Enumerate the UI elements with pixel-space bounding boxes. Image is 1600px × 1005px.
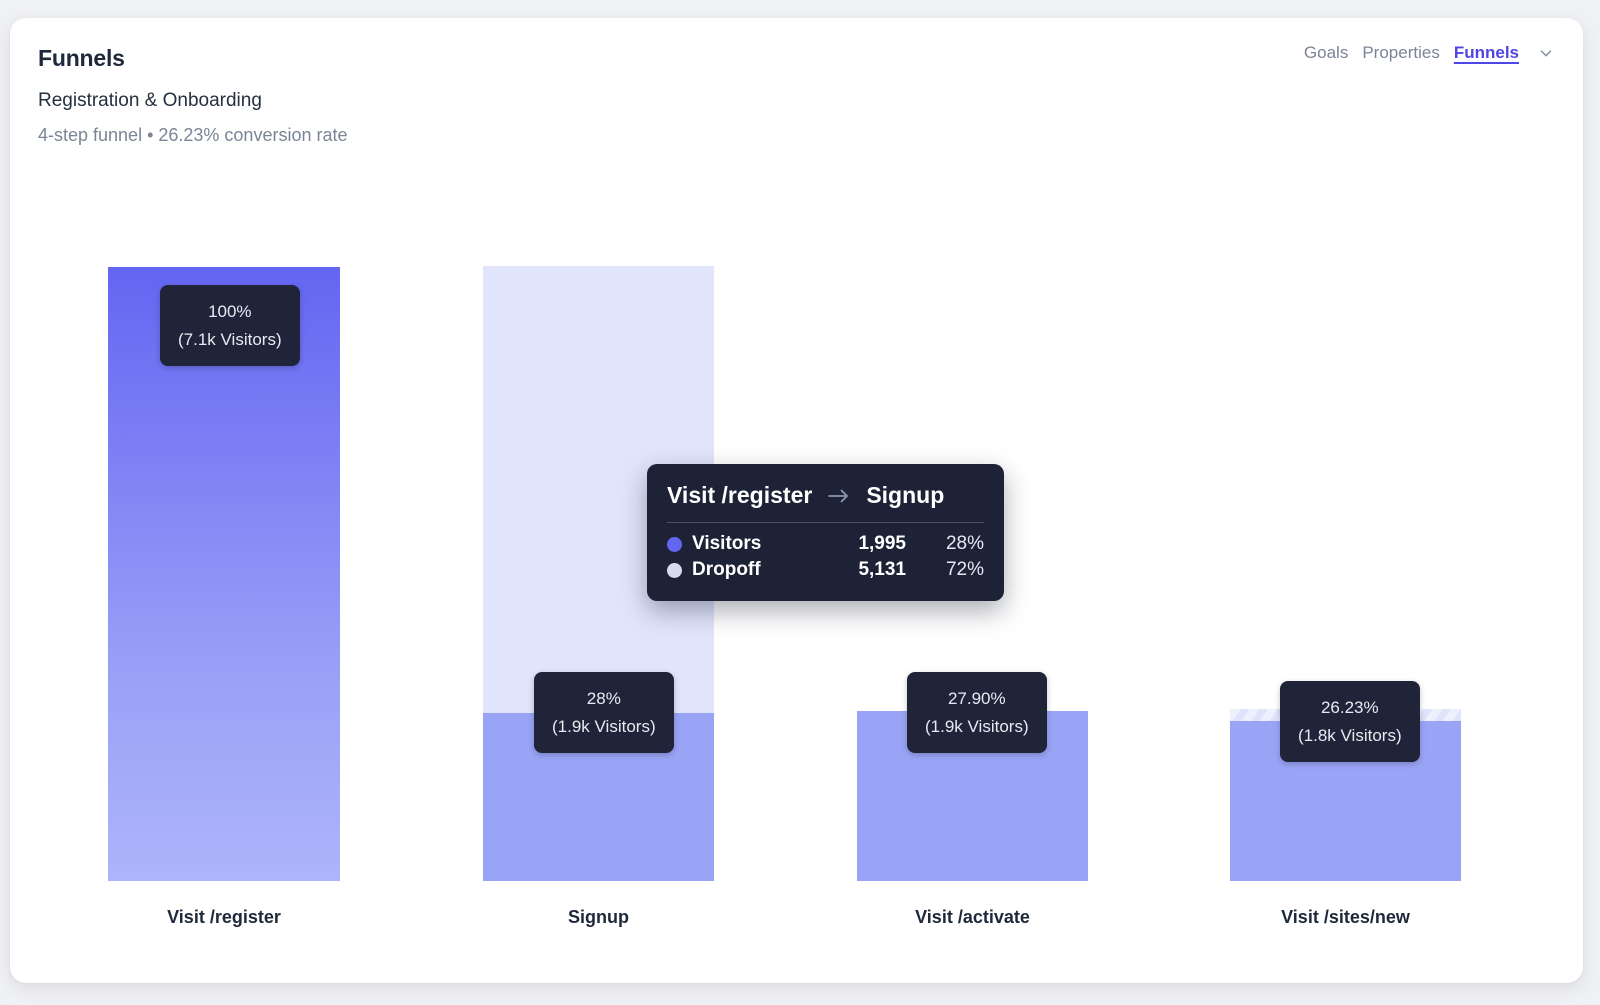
chip-visitors-1: (7.1k Visitors) [178,326,282,354]
tooltip-visitors-percent: 28% [906,533,984,555]
funnel-step-4[interactable]: Visit /sites/new [1230,18,1461,983]
chip-visitors-3: (1.9k Visitors) [925,713,1029,741]
funnel-step-1[interactable]: Visit /register [108,18,340,983]
bar-label-3: Visit /activate [857,907,1088,928]
tooltip-visitors-label: Visitors [692,533,814,555]
tooltip-dropoff-percent: 72% [906,559,984,581]
tooltip-row-dropoff: Dropoff 5,131 72% [667,559,984,581]
funnel-chart: Visit /register Signup Visit /activate V… [10,18,1583,983]
tooltip-from-step: Visit /register [667,482,812,509]
chip-visitors-4: (1.8k Visitors) [1298,722,1402,750]
visitors-legend-dot [667,537,682,552]
tooltip-dropoff-label: Dropoff [692,559,814,581]
tooltip-divider [667,522,984,523]
chip-percent-1: 100% [178,298,282,326]
tooltip-to-step: Signup [866,482,944,509]
bar-label-4: Visit /sites/new [1230,907,1461,928]
arrow-right-icon [826,488,852,504]
value-chip-3: 27.90% (1.9k Visitors) [907,672,1047,753]
dropoff-legend-dot [667,563,682,578]
funnel-tooltip: Visit /register Signup Visitors 1,995 28… [647,464,1004,601]
chip-percent-3: 27.90% [925,685,1029,713]
value-chip-1: 100% (7.1k Visitors) [160,285,300,366]
tooltip-row-visitors: Visitors 1,995 28% [667,533,984,555]
bar-label-2: Signup [483,907,714,928]
tooltip-visitors-count: 1,995 [814,533,906,555]
tooltip-dropoff-count: 5,131 [814,559,906,581]
funnel-card: Funnels Registration & Onboarding 4-step… [10,18,1583,983]
tooltip-title: Visit /register Signup [667,482,984,509]
chip-visitors-2: (1.9k Visitors) [552,713,656,741]
chip-percent-2: 28% [552,685,656,713]
chip-percent-4: 26.23% [1298,694,1402,722]
bar-label-1: Visit /register [108,907,340,928]
value-chip-4: 26.23% (1.8k Visitors) [1280,681,1420,762]
screen: Funnels Registration & Onboarding 4-step… [0,0,1600,1005]
value-chip-2: 28% (1.9k Visitors) [534,672,674,753]
